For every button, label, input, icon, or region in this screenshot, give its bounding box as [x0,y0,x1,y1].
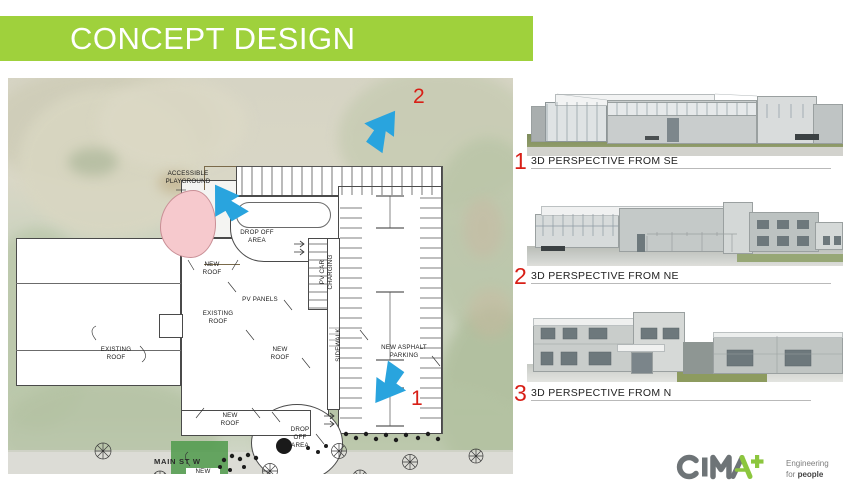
perspective-2-number: 2 [514,265,527,288]
cima-tagline-line2-light: for [786,470,798,479]
perspective-1-image[interactable] [527,78,843,156]
perspective-3-label: 3D PERSPECTIVE FROM N [531,387,811,401]
perspective-1-number: 1 [514,150,527,173]
view-marker-arrow-2[interactable] [356,98,408,154]
cima-tagline: Engineering for people [786,459,846,481]
cima-tagline-line1: Engineering [786,459,846,470]
perspective-3-image[interactable] [527,302,843,382]
perspective-1-label: 3D PERSPECTIVE FROM SE [531,155,831,169]
view-marker-arrow-1[interactable] [363,360,415,414]
view-marker-number-1: 1 [411,388,423,409]
perspective-2-image[interactable] [527,192,843,266]
page-title: CONCEPT DESIGN [0,21,355,57]
cima-logo: Engineering for people [672,452,842,486]
view-marker-number-2: 2 [413,86,425,107]
perspective-2-label: 3D PERSPECTIVE FROM NE [531,270,831,284]
view-marker-number-3: 3 [196,78,208,79]
parking-stall-lines [8,78,513,474]
perspective-3-number: 3 [514,382,527,405]
view-marker-arrow-3[interactable] [203,178,249,232]
site-plan[interactable]: ACCESSIBLE PLAYGROUND DROP OFF AREA NEW … [8,78,513,474]
cima-tagline-line2-bold: people [798,470,824,479]
title-bar: CONCEPT DESIGN [0,16,533,61]
slide-root: CONCEPT DESIGN [0,0,846,499]
